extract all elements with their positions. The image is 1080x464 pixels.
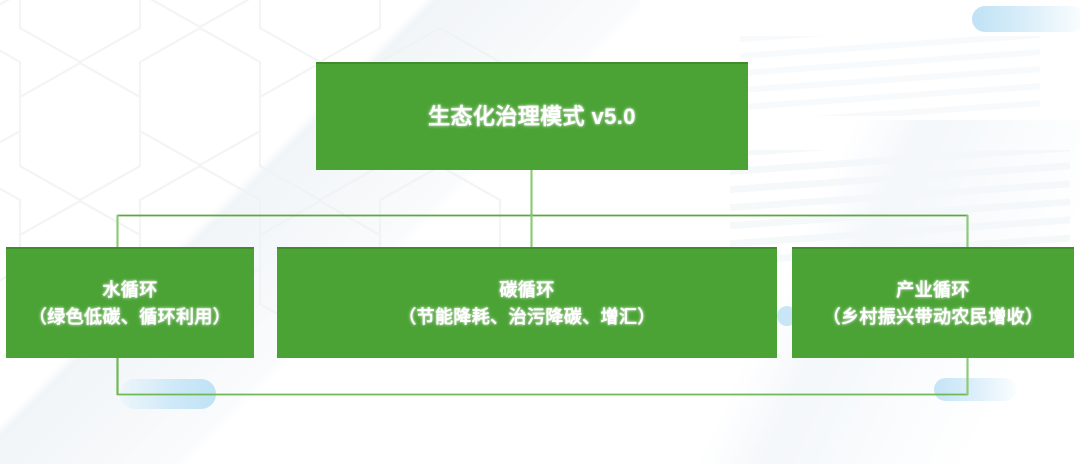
node-root-label: 生态化治理模式 v5.0	[422, 101, 642, 133]
node-carbon-cycle-label: 碳循环 （节能降耗、治污降碳、增汇）	[392, 277, 662, 329]
decor-pill-bottom-left	[120, 379, 216, 409]
node-water-cycle[interactable]: 水循环 （绿色低碳、循环利用）	[6, 247, 254, 358]
stripe-band-top-right	[740, 36, 1040, 116]
node-industry-cycle-label: 产业循环 （乡村振兴带动农民增收）	[817, 277, 1050, 329]
decor-pill-top-right	[972, 6, 1080, 32]
node-industry-cycle[interactable]: 产业循环 （乡村振兴带动农民增收）	[792, 247, 1074, 358]
node-water-cycle-label: 水循环 （绿色低碳、循环利用）	[23, 277, 237, 329]
diagram-canvas: 生态化治理模式 v5.0 水循环 （绿色低碳、循环利用） 碳循环 （节能降耗、治…	[0, 0, 1080, 464]
node-carbon-cycle[interactable]: 碳循环 （节能降耗、治污降碳、增汇）	[277, 247, 777, 358]
decor-pill-bottom-right	[934, 378, 1016, 401]
node-root[interactable]: 生态化治理模式 v5.0	[316, 62, 748, 170]
